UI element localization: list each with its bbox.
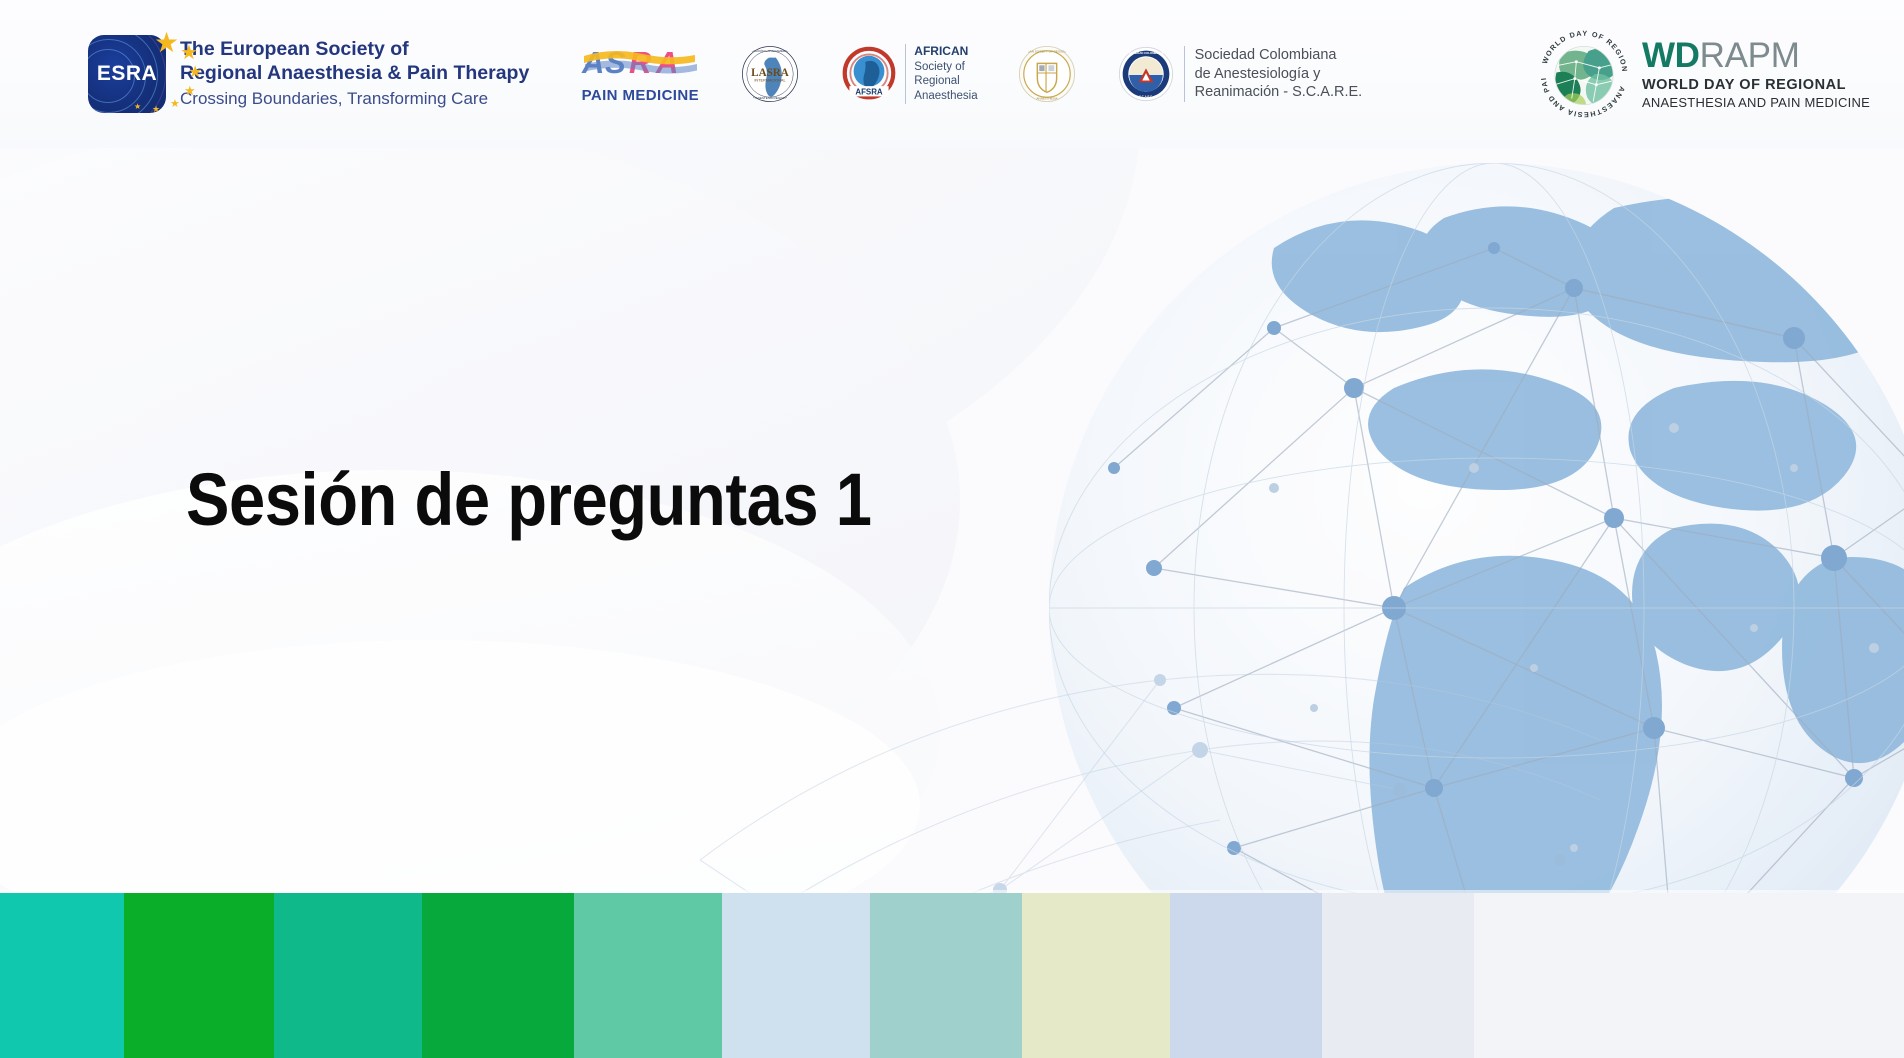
scare-seal-icon: SOCIEDAD COLOMBIANA S.C.A.R.E. <box>1118 46 1174 102</box>
band-column-4 <box>422 893 574 1058</box>
band-column-2 <box>124 893 274 1058</box>
esra-stars-icon: ★ ★ ★ ★ ★ ★ ★ <box>140 29 212 121</box>
logo-wdrapm: WORLD DAY OF REGIONAL ANAESTHESIA AND PA… <box>1538 28 1870 120</box>
band-column-11 <box>1474 893 1904 1058</box>
svg-text:INTERNACIONAL: INTERNACIONAL <box>755 79 787 83</box>
esra-tagline: Crossing Boundaries, Transforming Care <box>180 88 529 110</box>
band-divider <box>0 890 1904 893</box>
bottom-color-band <box>0 893 1904 1058</box>
wdrapm-main-title: WDRAPM <box>1642 38 1870 73</box>
svg-text:SOCIEDAD COLOMBIANA: SOCIEDAD COLOMBIANA <box>1128 51 1163 55</box>
esra-line2: Regional Anaesthesia & Pain Therapy <box>180 62 529 86</box>
band-column-1 <box>0 893 124 1058</box>
wdrapm-wordmark: WDRAPM WORLD DAY OF REGIONAL ANAESTHESIA… <box>1642 38 1870 110</box>
band-column-10 <box>1322 893 1474 1058</box>
scare-line3: Reanimación - S.C.A.R.E. <box>1195 83 1363 102</box>
slide-title: Sesión de preguntas 1 <box>186 463 872 537</box>
logo-afsra: AFSRA AFRICAN Society of Regional Anaest… <box>841 44 977 103</box>
scare-line2: de Anestesiología y <box>1195 65 1363 84</box>
wdrapm-rapm: RAPM <box>1700 36 1800 75</box>
afsra-line4: Anaesthesia <box>914 89 977 104</box>
band-column-6 <box>722 893 870 1058</box>
slide-root: ESRA ★ ★ ★ ★ ★ ★ ★ The European Society … <box>0 0 1904 1058</box>
logo-lasra: LASRA INTERNACIONAL ASOCIACIÓN LATINOAME… <box>741 45 799 103</box>
logo-scare: SOCIEDAD COLOMBIANA S.C.A.R.E. Sociedad … <box>1118 46 1363 103</box>
band-column-8 <box>1022 893 1170 1058</box>
band-column-3 <box>274 893 422 1058</box>
logo-asian-society: ASIAN SOCIETY OF REGIONAL ANAESTHESIA <box>1018 45 1076 103</box>
svg-text:DE ANESTESIA REGIONAL: DE ANESTESIA REGIONAL <box>751 96 790 100</box>
wdrapm-wd: WD <box>1642 36 1700 75</box>
svg-text:S.C.A.R.E.: S.C.A.R.E. <box>1139 94 1153 98</box>
afsra-line3: Regional <box>914 74 977 89</box>
afsra-mark-label: AFSRA <box>856 88 884 97</box>
logo-esra: ESRA ★ ★ ★ ★ ★ ★ ★ The European Society … <box>88 35 529 113</box>
esra-line1: The European Society of <box>180 38 529 62</box>
band-column-5 <box>574 893 722 1058</box>
header-logo-bar: ESRA ★ ★ ★ ★ ★ ★ ★ The European Society … <box>0 0 1904 148</box>
esra-wordmark: The European Society of Regional Anaesth… <box>180 38 529 110</box>
afsra-wordmark: AFRICAN Society of Regional Anaesthesia <box>905 44 977 103</box>
afsra-seal-icon: AFSRA <box>841 46 897 102</box>
wdrapm-sub1: WORLD DAY OF REGIONAL <box>1642 77 1870 93</box>
wdrapm-globe-icon: WORLD DAY OF REGIONAL ANAESTHESIA AND PA… <box>1538 28 1630 120</box>
wdrapm-sub2: ANAESTHESIA AND PAIN MEDICINE <box>1642 95 1870 110</box>
svg-text:ASIAN SOCIETY OF REGIONAL: ASIAN SOCIETY OF REGIONAL <box>1025 49 1069 53</box>
logo-asra: A S R A PAIN MEDICINE <box>581 44 699 104</box>
lasra-mark-label: LASRA <box>751 67 789 79</box>
partner-logos-group: ESRA ★ ★ ★ ★ ★ ★ ★ The European Society … <box>88 35 1362 113</box>
scare-line1: Sociedad Colombiana <box>1195 46 1363 65</box>
afsra-line2: Society of <box>914 60 977 75</box>
svg-text:ASOCIACIÓN LATINOAMERICANA: ASOCIACIÓN LATINOAMERICANA <box>746 48 796 53</box>
asra-mark-icon: A S R A <box>581 44 699 84</box>
svg-text:ANAESTHESIA: ANAESTHESIA <box>1036 97 1057 101</box>
asra-subtitle: PAIN MEDICINE <box>581 87 699 104</box>
scare-wordmark: Sociedad Colombiana de Anestesiología y … <box>1184 46 1363 103</box>
band-column-9 <box>1170 893 1322 1058</box>
band-column-7 <box>870 893 1022 1058</box>
afsra-line1: AFRICAN <box>914 44 977 59</box>
